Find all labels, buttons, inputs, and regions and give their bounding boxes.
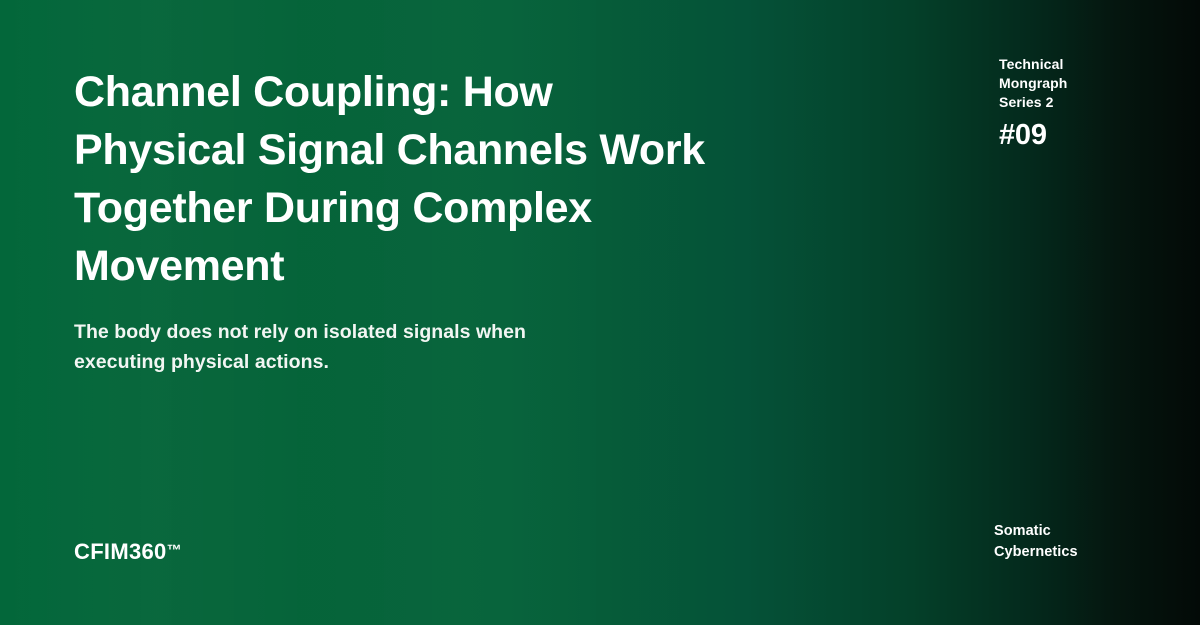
series-badge-label-line-2: Mongraph xyxy=(999,75,1067,91)
headline-block: Channel Coupling: How Physical Signal Ch… xyxy=(74,63,754,377)
page-subtitle: The body does not rely on isolated signa… xyxy=(74,317,604,377)
series-badge-label-line-1: Technical xyxy=(999,56,1063,72)
series-badge-label: Technical Mongraph Series 2 xyxy=(999,55,1134,112)
title-slide: Channel Coupling: How Physical Signal Ch… xyxy=(0,0,1200,625)
page-title: Channel Coupling: How Physical Signal Ch… xyxy=(74,63,754,295)
headline-line-3: Together During Complex xyxy=(74,184,592,232)
footer-tagline-line-1: Somatic xyxy=(994,523,1051,539)
series-badge: Technical Mongraph Series 2 #09 xyxy=(999,55,1134,152)
subtitle-line-1: The body does not rely on isolated signa… xyxy=(74,321,526,343)
headline-line-1: Channel Coupling: How xyxy=(74,68,553,116)
footer-tagline: Somatic Cybernetics xyxy=(994,521,1134,563)
brand-logo: CFIM360™ xyxy=(74,539,182,565)
headline-line-2: Physical Signal Channels Work xyxy=(74,126,705,174)
series-badge-number: #09 xyxy=(999,118,1134,152)
subtitle-line-2: executing physical actions. xyxy=(74,351,329,373)
brand-logo-text: CFIM360 xyxy=(74,539,167,564)
footer-tagline-line-2: Cybernetics xyxy=(994,544,1078,560)
headline-line-4: Movement xyxy=(74,242,284,290)
trademark-symbol: ™ xyxy=(167,542,182,559)
series-badge-label-line-3: Series 2 xyxy=(999,94,1054,110)
